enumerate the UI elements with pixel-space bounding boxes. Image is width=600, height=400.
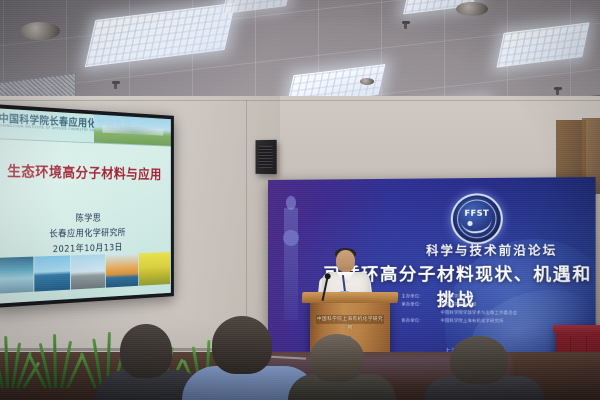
conference-hall-photo: 中国科学院长春应用化学研究所 CHANGCHUN INSTITUTE OF AP… bbox=[0, 0, 600, 400]
podium-top-surface bbox=[302, 292, 399, 303]
ffst-emblem-icon: FFST bbox=[451, 193, 503, 244]
organizer-value: 中国科学院化学部 bbox=[441, 300, 477, 308]
projection-screen: 中国科学院长春应用化学研究所 CHANGCHUN INSTITUTE OF AP… bbox=[0, 104, 174, 308]
emblem-text: FFST bbox=[453, 209, 501, 218]
slide-photo-strip bbox=[0, 252, 171, 294]
ceiling-speaker-dome bbox=[456, 2, 488, 16]
slide-photo-circuit-board bbox=[0, 257, 33, 294]
audience-person bbox=[288, 342, 396, 400]
ceiling-speaker-dome bbox=[20, 22, 60, 40]
projected-slide: 中国科学院长春应用化学研究所 CHANGCHUN INSTITUTE OF AP… bbox=[0, 108, 171, 304]
audience-head bbox=[212, 316, 272, 374]
ceiling-speaker-dome bbox=[360, 78, 374, 85]
wall-speaker-icon bbox=[256, 140, 277, 174]
sprinkler-head bbox=[404, 22, 407, 29]
audience-head bbox=[310, 334, 364, 382]
emblem-swoosh-icon bbox=[461, 217, 494, 235]
organizer-role bbox=[401, 308, 436, 316]
slide-speaker-name: 陈学思 bbox=[0, 211, 171, 227]
organizer-role: 主办单位: bbox=[401, 292, 436, 300]
slide-photo-chemical-plant bbox=[71, 254, 105, 289]
slide-title: 生态环境高分子材料与应用 bbox=[0, 160, 171, 184]
audience-head bbox=[450, 336, 508, 384]
slide-header-bar: 中国科学院长春应用化学研究所 CHANGCHUN INSTITUTE OF AP… bbox=[0, 108, 171, 146]
slide-header-photo bbox=[94, 114, 171, 145]
organizer-value: 中国科学院上海有机化学研究所 bbox=[441, 317, 504, 325]
organizer-role: 协办单位: bbox=[401, 317, 436, 325]
banner-organizer-list: 主办单位: 中国科学院学部 承办单位: 中国科学院化学部 中国科学院学部学术与出… bbox=[401, 292, 587, 325]
organizer-value: 中国科学院学部 bbox=[441, 292, 472, 300]
wall-seam bbox=[246, 100, 247, 350]
organizer-role: 承办单位: bbox=[401, 300, 436, 308]
emblem-dot-icon bbox=[467, 221, 472, 226]
wall-seam bbox=[0, 100, 600, 101]
slide-photo-ship bbox=[34, 255, 70, 291]
audience-head bbox=[120, 324, 172, 378]
sprinkler-head bbox=[556, 88, 559, 95]
podium-nameplate: 中国科学院上海有机化学研究所 bbox=[316, 315, 384, 324]
slide-photo-cargo-ship bbox=[106, 253, 138, 287]
podium-nameplate-text: 中国科学院上海有机化学研究所 bbox=[316, 315, 384, 333]
slide-photo-rapeseed-field bbox=[139, 252, 170, 286]
sprinkler-head bbox=[114, 82, 117, 89]
audience-person bbox=[424, 344, 544, 400]
